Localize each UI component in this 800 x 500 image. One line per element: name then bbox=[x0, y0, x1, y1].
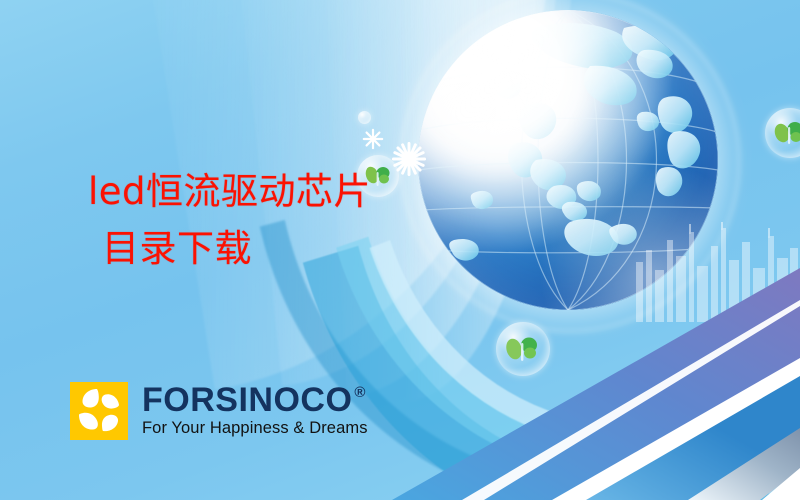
bubble-tiny bbox=[358, 111, 371, 124]
green-sprout-icon bbox=[496, 322, 550, 376]
company-logo[interactable]: FORSINOCO ® For Your Happiness & Dreams bbox=[70, 382, 368, 440]
headline-line-1: led恒流驱动芯片 bbox=[88, 170, 371, 213]
registered-trademark-icon: ® bbox=[354, 385, 366, 400]
catalog-cover-slide: led恒流驱动芯片 目录下载 FORSINOCO ® For Your Happ… bbox=[0, 0, 800, 500]
headline-line-2: 目录下载 bbox=[102, 220, 508, 277]
logo-name: FORSINOCO ® bbox=[142, 383, 368, 417]
bubble-with-sprout-large bbox=[496, 322, 550, 376]
green-sprout-icon bbox=[765, 108, 800, 158]
page-title: led恒流驱动芯片 目录下载 bbox=[88, 163, 508, 278]
logo-wordmark-group: FORSINOCO ® For Your Happiness & Dreams bbox=[142, 382, 368, 438]
logo-name-text: FORSINOCO bbox=[142, 383, 352, 417]
starburst-sparkle-small bbox=[362, 128, 384, 150]
bubble-with-sprout-edge bbox=[765, 108, 800, 158]
four-petal-pinwheel-flower-icon bbox=[70, 382, 128, 440]
logo-tagline: For Your Happiness & Dreams bbox=[142, 418, 368, 438]
